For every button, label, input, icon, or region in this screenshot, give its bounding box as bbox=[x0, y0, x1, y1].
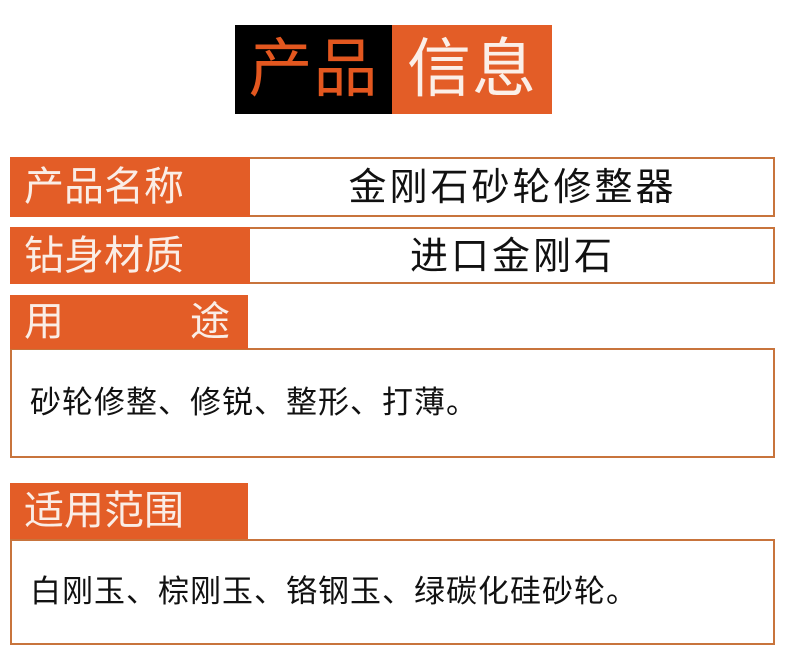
usage-label-char-1: 用 bbox=[24, 302, 64, 342]
usage-section-content: 砂轮修整、修锐、整形、打薄。 bbox=[10, 348, 775, 458]
scope-section-label: 适用范围 bbox=[10, 483, 248, 539]
scope-section-content: 白刚玉、棕刚玉、铬钢玉、绿碳化硅砂轮。 bbox=[10, 539, 775, 645]
usage-label-char-2: 途 bbox=[190, 302, 230, 342]
usage-section-label: 用 途 bbox=[10, 295, 248, 349]
spec-row-2-label: 钻身材质 bbox=[10, 227, 250, 284]
product-spec-table: 产品名称 金刚石砂轮修整器 钻身材质 进口金刚石 用 途 砂轮修整、修锐、整形、… bbox=[0, 0, 790, 668]
spec-row-1-value: 金刚石砂轮修整器 bbox=[250, 157, 775, 217]
spec-row-1-label: 产品名称 bbox=[10, 157, 250, 217]
spec-row-2-value: 进口金刚石 bbox=[250, 227, 775, 284]
